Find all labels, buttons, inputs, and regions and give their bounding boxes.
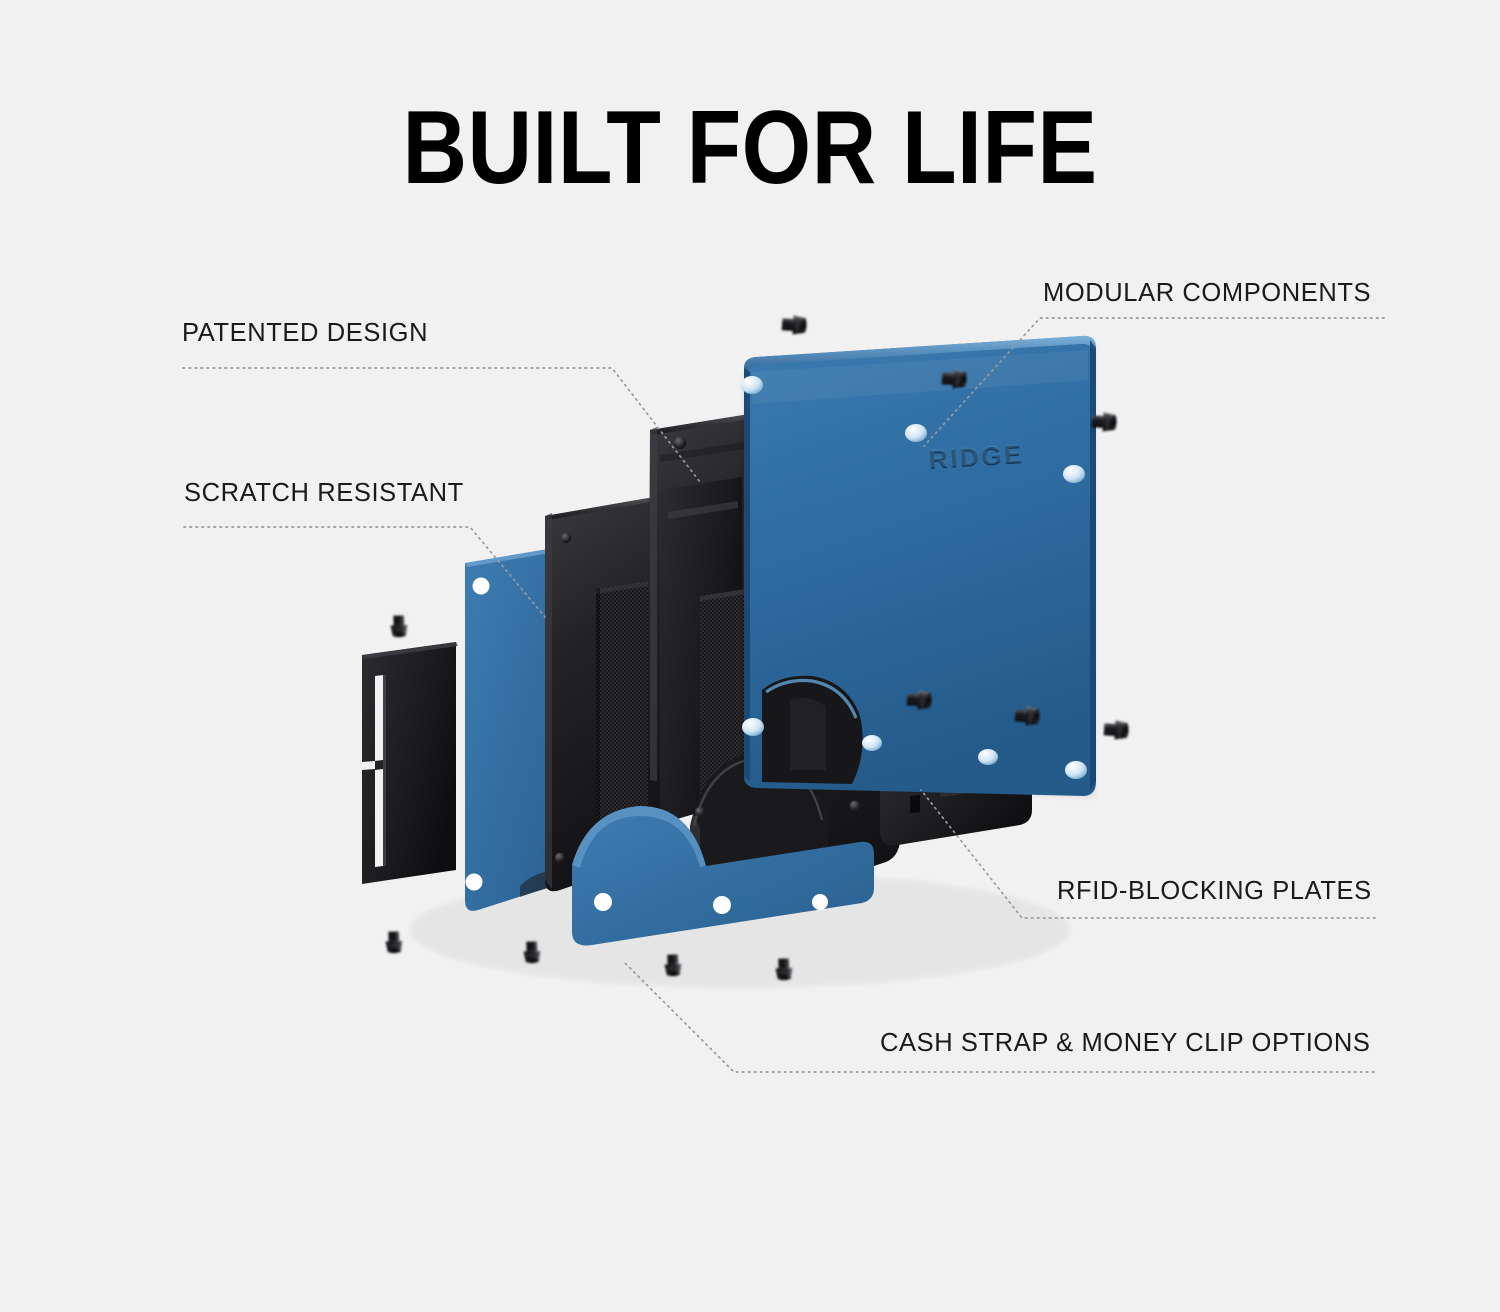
callout-scratch-resistant: SCRATCH RESISTANT (184, 479, 464, 508)
callout-patented-design: PATENTED DESIGN (182, 319, 428, 348)
diagram-canvas: RIDGE RIDGE BUILT FOR LIFE PATENTED DESI (0, 0, 1500, 1312)
ridge-logo: RIDGE RIDGE (928, 438, 1025, 475)
screw (1104, 720, 1130, 740)
ridge-logo-highlight: RIDGE (928, 438, 1025, 474)
callout-rfid-blocking-plates: RFID-BLOCKING PLATES (1057, 877, 1372, 906)
callout-modular-components: MODULAR COMPONENTS (1043, 279, 1371, 308)
callout-cash-strap-money-clip: CASH STRAP & MONEY CLIP OPTIONS (880, 1029, 1370, 1058)
component-money-clip (362, 642, 458, 884)
page-title: BUILT FOR LIFE (105, 96, 1395, 200)
screw (390, 615, 407, 637)
screw (385, 931, 402, 953)
component-front-plate-ridge: RIDGE RIDGE (741, 336, 1096, 798)
screw (782, 315, 808, 335)
